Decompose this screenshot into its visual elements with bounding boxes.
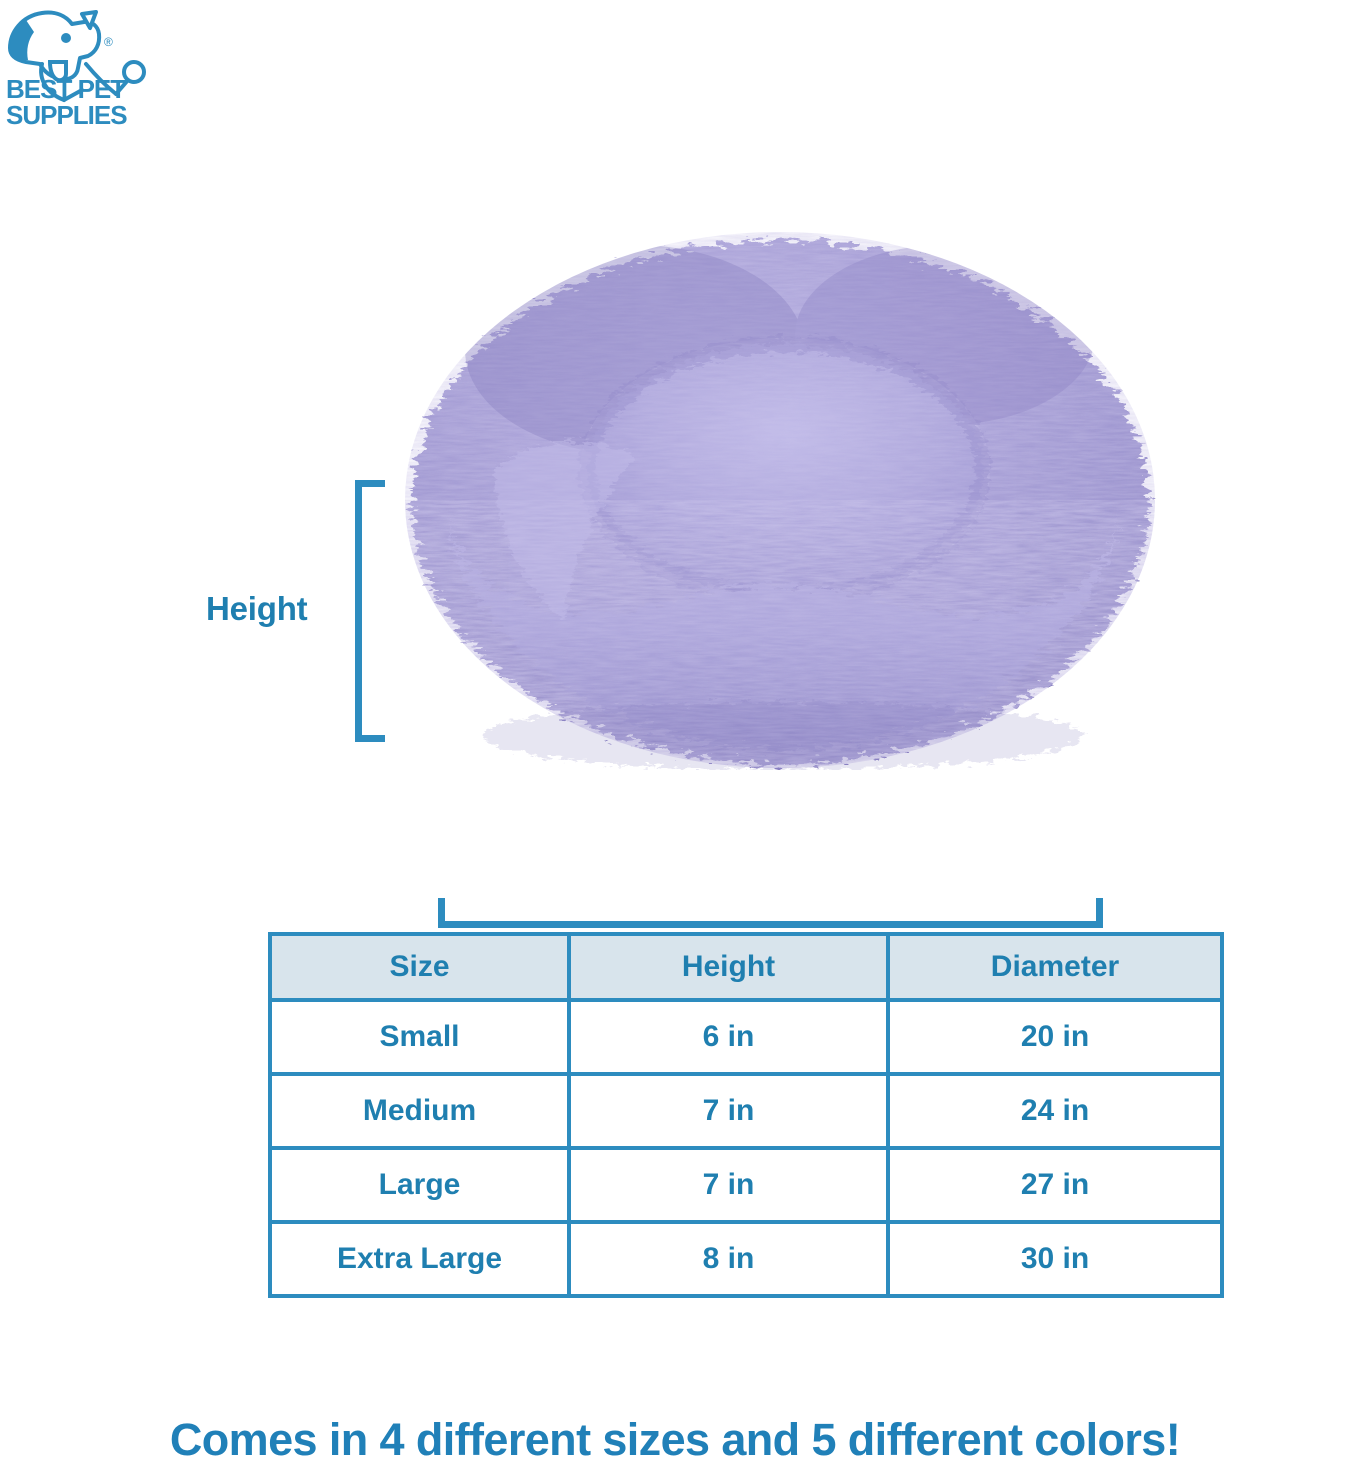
cell-size: Medium [270,1074,569,1148]
footer-tagline: Comes in 4 different sizes and 5 differe… [0,1414,1350,1466]
brand-logo: ® BEST PET SUPPLIES [4,2,164,130]
cell-diameter: 20 in [888,1000,1222,1074]
table-header-row: Size Height Diameter [270,934,1222,1000]
product-figure: Height Diameter [0,150,1350,910]
cell-height: 7 in [569,1074,888,1148]
cell-size: Extra Large [270,1222,569,1296]
cell-height: 8 in [569,1222,888,1296]
height-bracket-icon [355,480,385,742]
cell-size: Large [270,1148,569,1222]
dog-nose-icon [10,20,34,60]
dog-eye-icon [61,33,71,43]
cell-diameter: 30 in [888,1222,1222,1296]
height-dimension-label: Height [206,590,307,628]
diameter-bracket-icon [438,898,1103,928]
cell-height: 7 in [569,1148,888,1222]
logo-text-line2: SUPPLIES [6,100,127,130]
column-header-diameter: Diameter [888,934,1222,1000]
table-row: Medium 7 in 24 in [270,1074,1222,1148]
cell-diameter: 27 in [888,1148,1222,1222]
column-header-height: Height [569,934,888,1000]
cell-size: Small [270,1000,569,1074]
table-row: Small 6 in 20 in [270,1000,1222,1074]
table-row: Extra Large 8 in 30 in [270,1222,1222,1296]
cell-height: 6 in [569,1000,888,1074]
size-chart-table: Size Height Diameter Small 6 in 20 in Me… [268,932,1224,1298]
column-header-size: Size [270,934,569,1000]
registered-mark: ® [104,35,113,49]
cell-diameter: 24 in [888,1074,1222,1148]
dog-bed-product-image [385,170,1175,770]
table-row: Large 7 in 27 in [270,1148,1222,1222]
